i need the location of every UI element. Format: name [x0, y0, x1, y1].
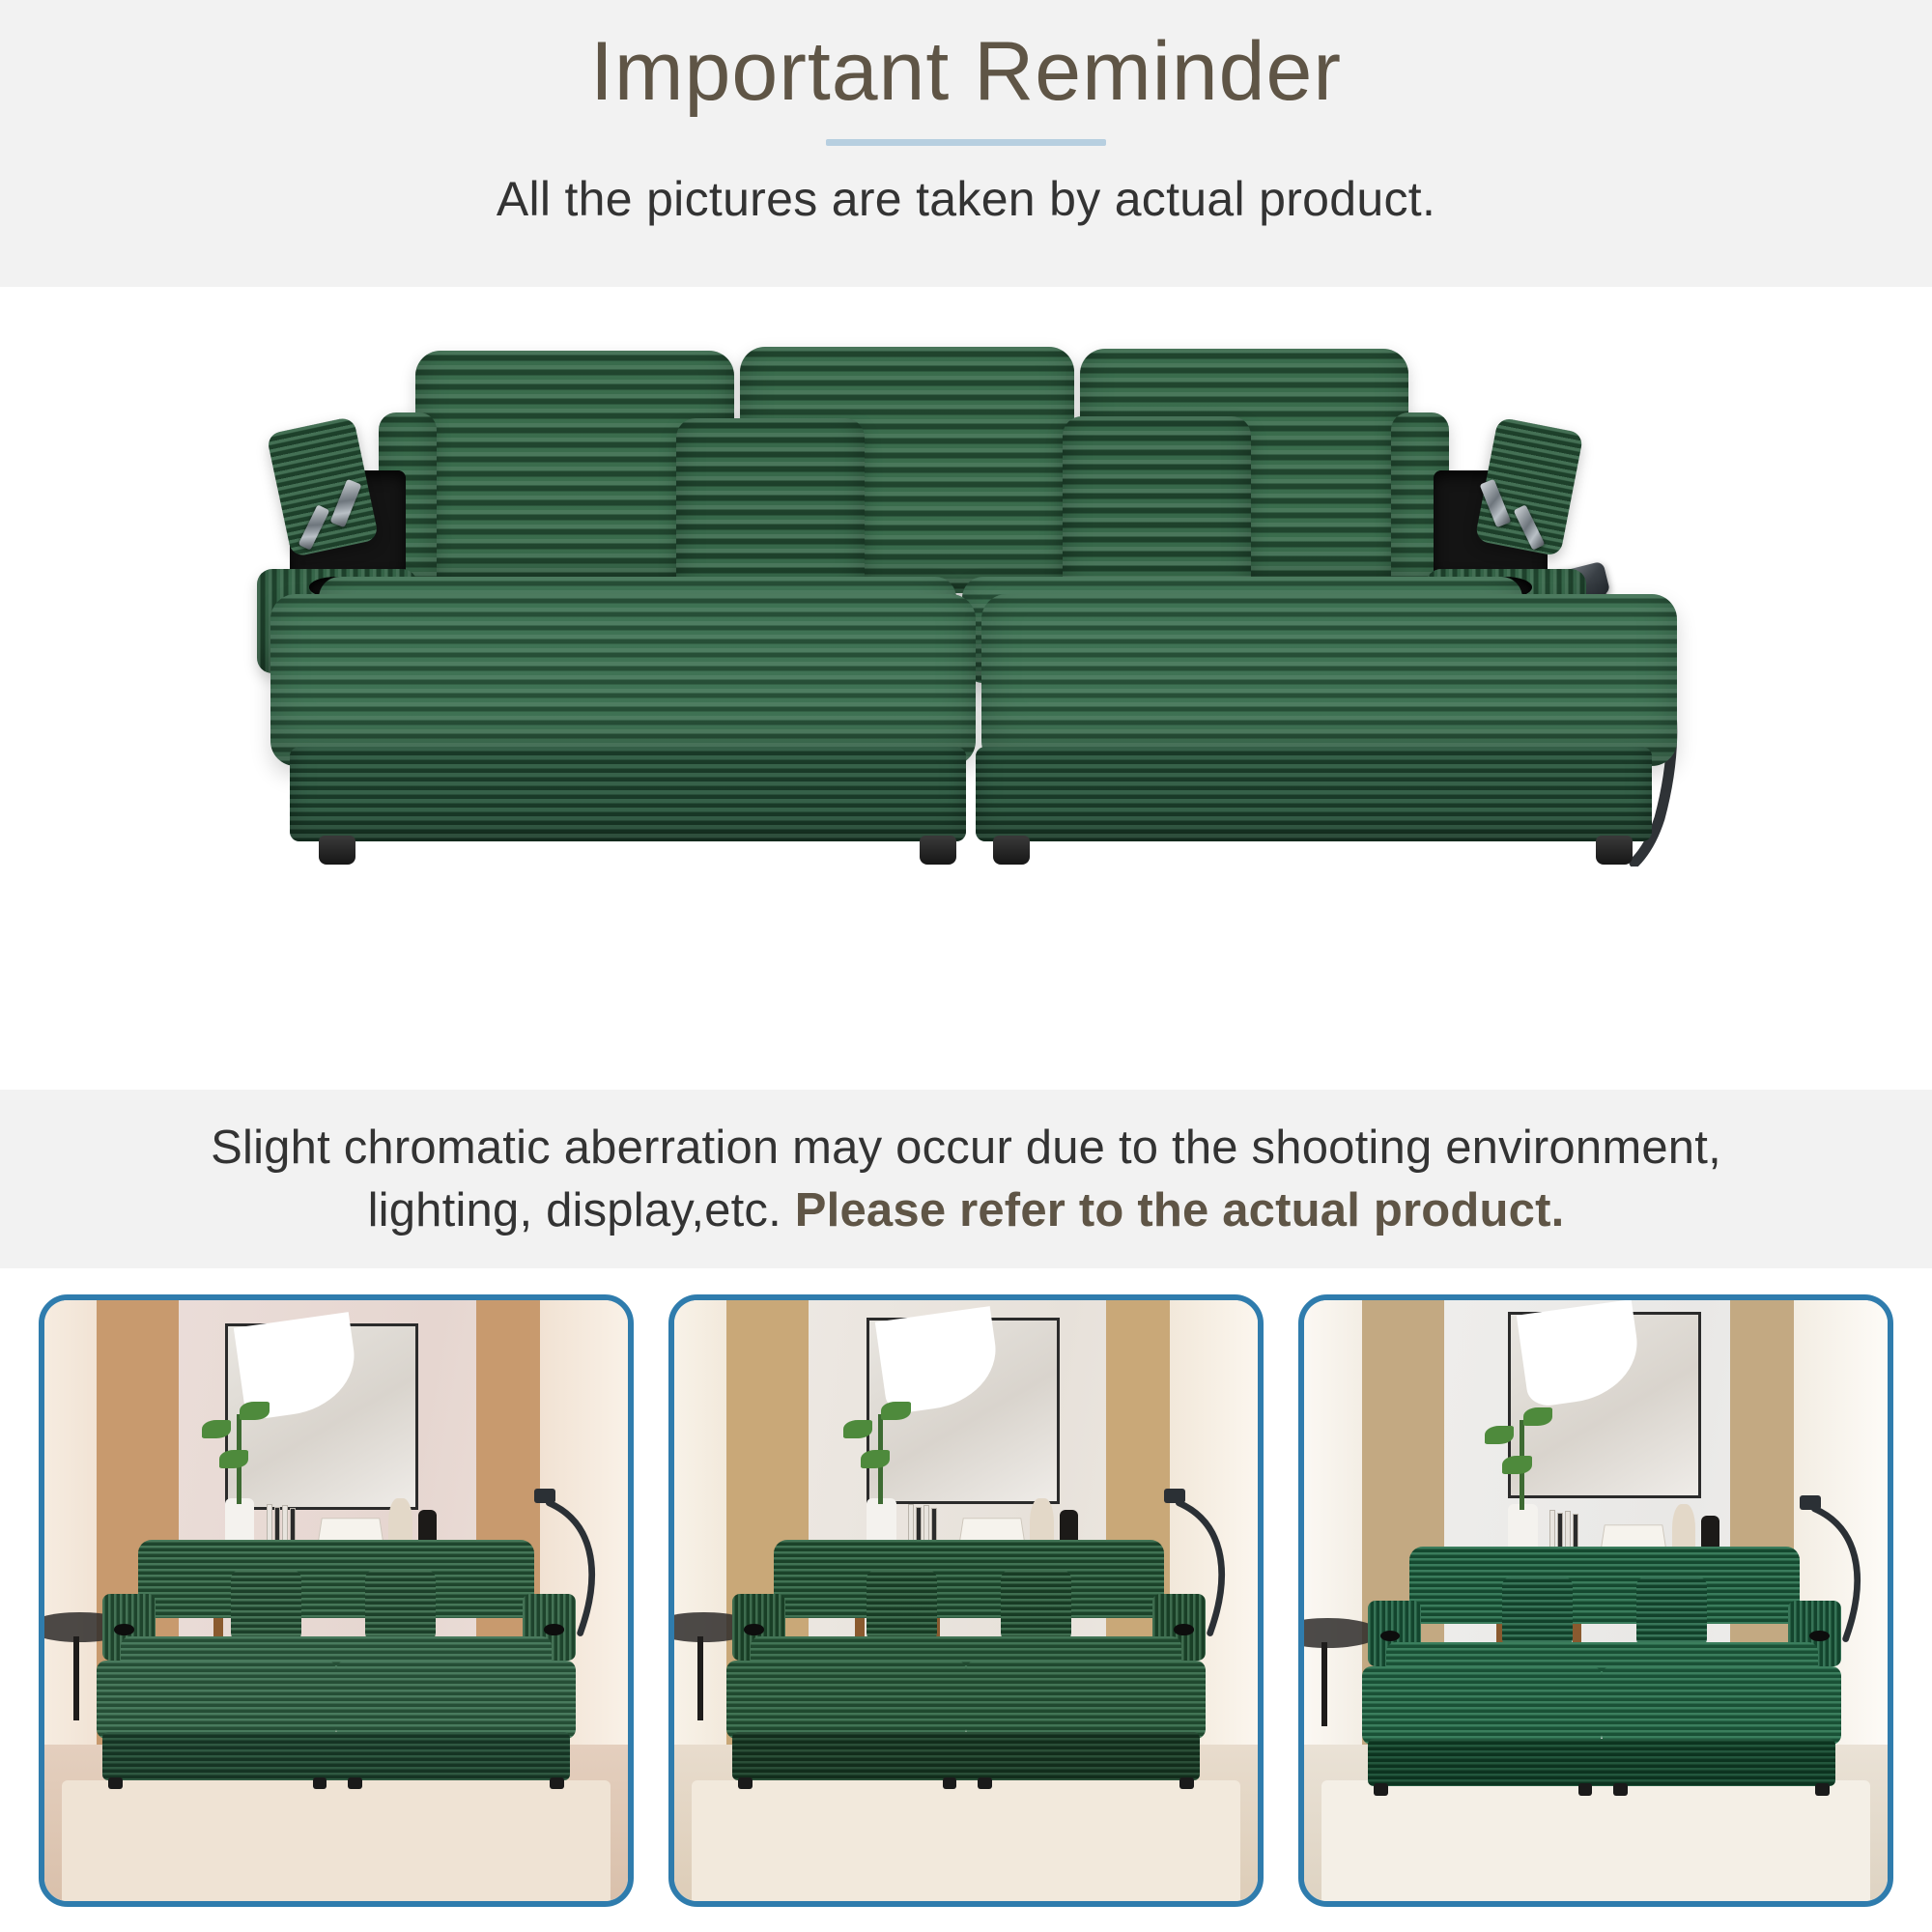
- room-scene-3: [1304, 1300, 1888, 1901]
- pullout-bed-left: [726, 1661, 966, 1739]
- plant-leaf-3: [219, 1450, 248, 1468]
- pullout-bed-left: [97, 1661, 336, 1739]
- pullout-platform-left: [270, 594, 976, 766]
- plant-leaf-1: [1485, 1426, 1514, 1444]
- throw-pillow-left: [231, 1570, 300, 1642]
- room-scene-1: [44, 1300, 628, 1901]
- room-scene-2: [674, 1300, 1258, 1901]
- plant-leaf-2: [881, 1402, 910, 1420]
- thumbnail-3[interactable]: [1298, 1294, 1893, 1907]
- area-rug: [62, 1780, 611, 1900]
- caption-line-2-strong: Please refer to the actual product.: [795, 1184, 1565, 1236]
- plant-leaf-2: [1523, 1407, 1552, 1426]
- throw-pillow-right: [365, 1570, 435, 1642]
- area-rug: [1321, 1780, 1870, 1900]
- throw-pillow-right: [1636, 1577, 1706, 1649]
- sofa-foot: [550, 1777, 563, 1789]
- sofa-foot: [1613, 1783, 1627, 1795]
- sofa-foot-3: [993, 836, 1030, 865]
- sofa-back-cushions: [138, 1540, 535, 1618]
- plant-leaf-3: [861, 1450, 890, 1468]
- sofa-foot-4: [1596, 836, 1633, 865]
- thumbnail-1[interactable]: [39, 1294, 634, 1907]
- pullout-bed-left: [1362, 1666, 1602, 1745]
- caption-line-2: lighting, display,etc. Please refer to t…: [368, 1179, 1565, 1242]
- plant-leaf-1: [843, 1420, 872, 1438]
- sofa-foot: [1179, 1777, 1193, 1789]
- sofa-foot: [943, 1777, 956, 1789]
- side-table-leg: [73, 1636, 79, 1720]
- plant-leaf-2: [240, 1402, 269, 1420]
- sofa-foot: [313, 1777, 327, 1789]
- caption-line-2-normal: lighting, display,etc.: [368, 1184, 795, 1236]
- thumbnail-2[interactable]: [668, 1294, 1264, 1907]
- sofa-foot-1: [319, 836, 355, 865]
- pullout-bed-right: [966, 1661, 1206, 1739]
- base-skirt-right: [976, 747, 1652, 841]
- art-shape: [875, 1306, 1003, 1415]
- base-skirt: [102, 1732, 569, 1780]
- pullout-platform-right: [981, 594, 1677, 766]
- throw-pillow-left: [867, 1570, 936, 1642]
- gooseneck-reading-lamp-icon: [1164, 1492, 1246, 1649]
- left-arm-storage-lid: [266, 416, 379, 557]
- throw-pillow-left: [1502, 1577, 1572, 1649]
- sofa-back-cushions: [1409, 1547, 1801, 1625]
- sofa-foot: [108, 1777, 122, 1789]
- side-table-leg: [697, 1636, 703, 1720]
- side-table-leg: [1321, 1642, 1327, 1726]
- sofa-foot-2: [920, 836, 956, 865]
- sofa-foot: [348, 1777, 361, 1789]
- base-skirt: [1368, 1739, 1834, 1787]
- gooseneck-reading-lamp-icon: [1800, 1498, 1882, 1655]
- sofa-foot: [1374, 1783, 1387, 1795]
- pullout-bed-right: [1602, 1666, 1841, 1745]
- product-listing-page: Important Reminder All the pictures are …: [0, 0, 1932, 1932]
- sofa-foot: [1815, 1783, 1829, 1795]
- sofa-foot: [978, 1777, 991, 1789]
- art-shape: [1517, 1300, 1644, 1409]
- wall-art: [1508, 1312, 1700, 1498]
- base-skirt-left: [290, 747, 966, 841]
- left-cup-holder-icon: [744, 1624, 764, 1634]
- header-band: Important Reminder All the pictures are …: [0, 0, 1932, 287]
- lamp-head-icon: [534, 1489, 555, 1503]
- base-skirt: [732, 1732, 1199, 1780]
- lamp-head-icon: [1164, 1489, 1185, 1503]
- sofa-foot: [738, 1777, 752, 1789]
- plant-leaf-3: [1502, 1456, 1531, 1474]
- page-title: Important Reminder: [590, 25, 1342, 118]
- caption-line-1: Slight chromatic aberration may occur du…: [211, 1117, 1721, 1179]
- header-subtitle: All the pictures are taken by actual pro…: [497, 171, 1435, 227]
- plant-leaf-1: [202, 1420, 231, 1438]
- lamp-head-icon: [1800, 1495, 1821, 1510]
- thumbnail-row: [0, 1268, 1932, 1932]
- sofa-illustration: [0, 287, 1932, 1090]
- title-divider: [826, 139, 1106, 146]
- caption-band: Slight chromatic aberration may occur du…: [0, 1090, 1932, 1268]
- hero-product-photo: [0, 287, 1932, 1090]
- throw-pillow-right: [1001, 1570, 1070, 1642]
- sofa-foot: [1578, 1783, 1592, 1795]
- left-cup-holder-icon: [1380, 1631, 1401, 1641]
- gooseneck-reading-lamp-icon: [534, 1492, 616, 1649]
- pullout-bed-right: [336, 1661, 576, 1739]
- area-rug: [692, 1780, 1240, 1900]
- sofa-back-cushions: [774, 1540, 1165, 1618]
- left-cup-holder-icon: [114, 1624, 134, 1634]
